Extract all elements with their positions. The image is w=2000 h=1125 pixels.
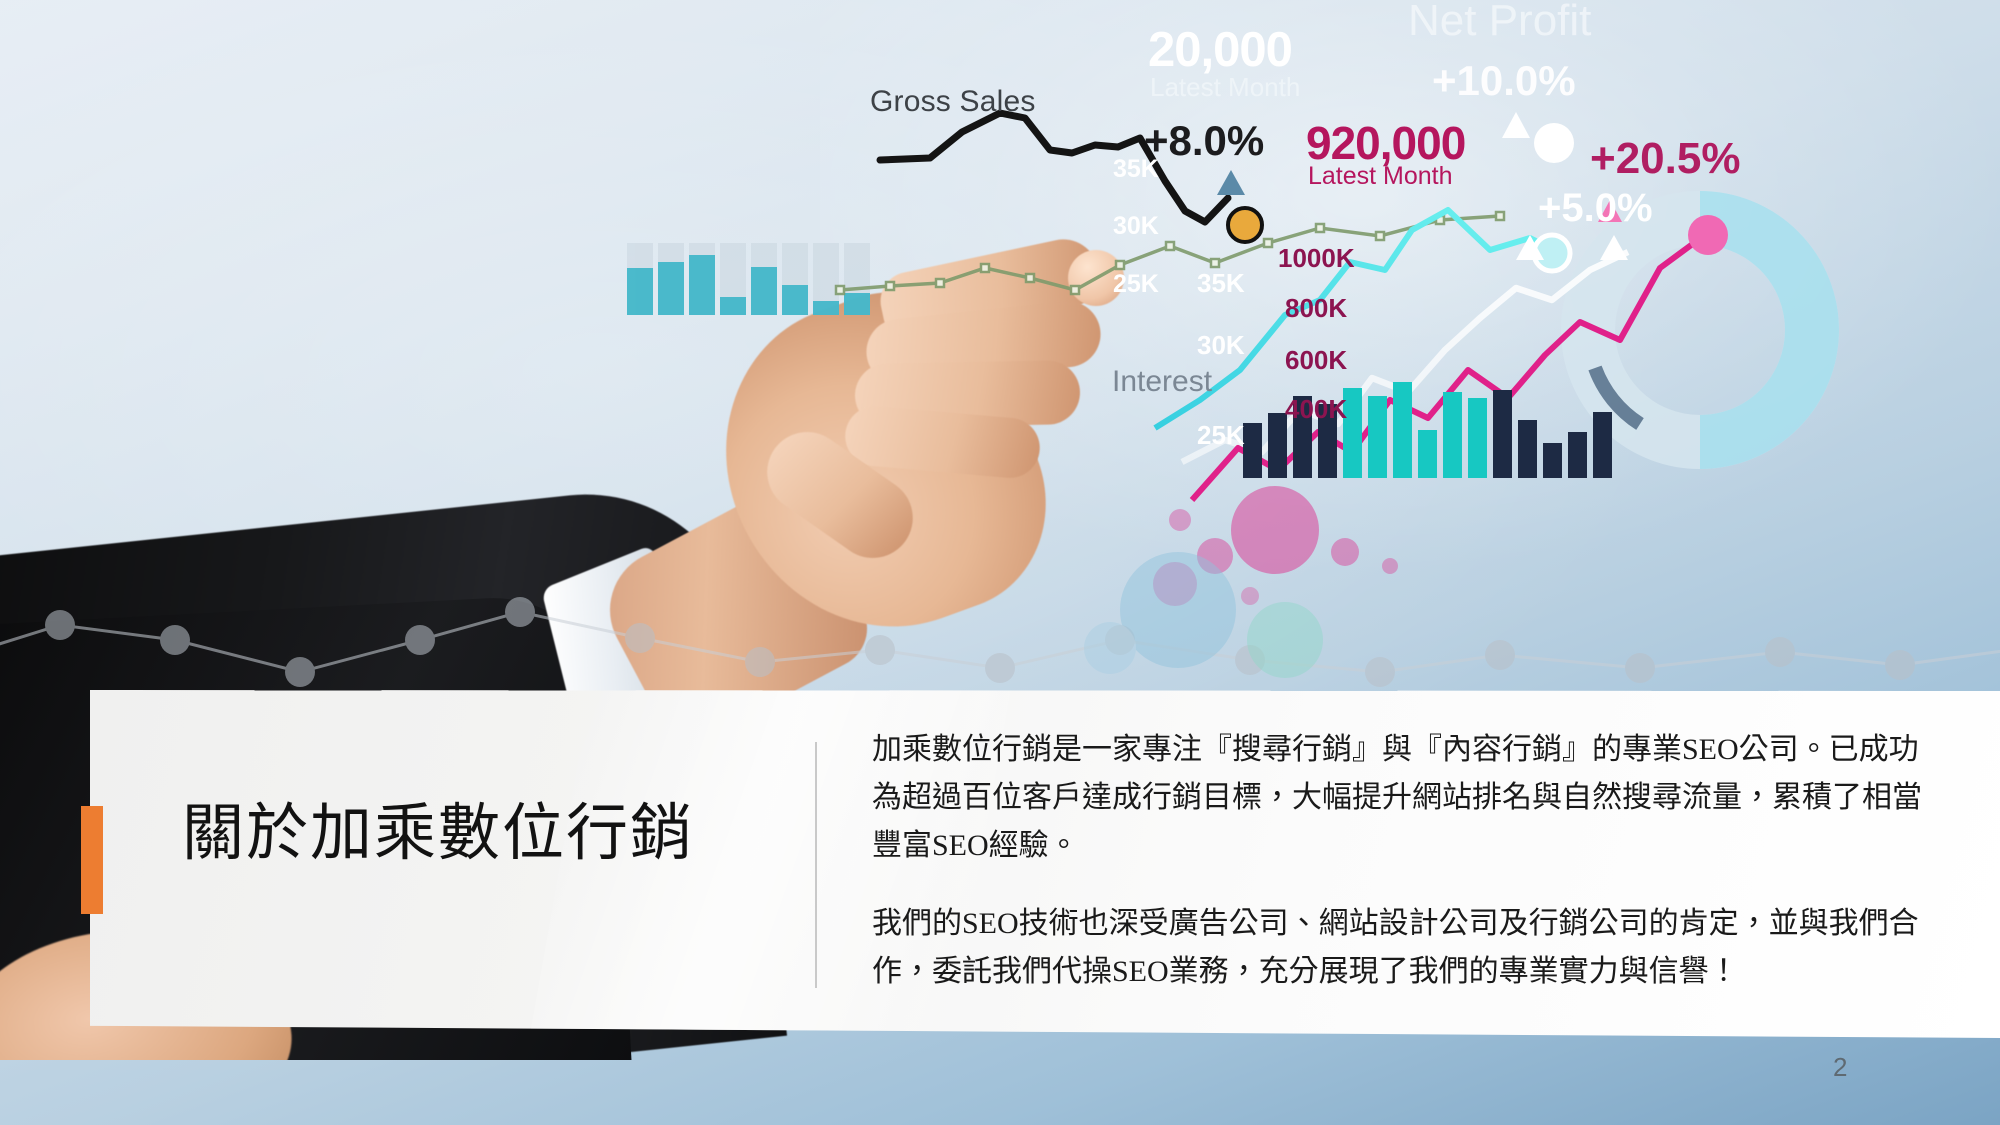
axis-tick-600k: 600K — [1285, 345, 1347, 376]
triangle-up-1 — [1217, 170, 1245, 195]
revenue-delta: +20.5% — [1590, 134, 1740, 184]
gross-sales-caption: Latest Month — [1150, 72, 1300, 103]
page-title: 關於加乘數位行銷 — [182, 800, 742, 869]
axis-tick-1000k: 1000K — [1278, 243, 1355, 274]
gross-sales-label: Gross Sales — [870, 85, 1036, 119]
axis-tick-30k-mid: 30K — [1197, 330, 1245, 361]
cyan-line-marker-1 — [1534, 123, 1574, 163]
revenue-caption: Latest Month — [1308, 162, 1453, 191]
vertical-divider — [815, 742, 817, 988]
page-number: 2 — [1833, 1052, 1847, 1083]
triangle-up-2 — [1502, 112, 1530, 138]
left-bar-chart — [627, 243, 870, 315]
magenta-line-marker — [1688, 215, 1728, 255]
axis-tick-25k-left: 25K — [1113, 270, 1159, 299]
axis-tick-800k: 800K — [1285, 293, 1347, 324]
body-text: 加乘數位行銷是一家專注『搜尋行銷』與『內容行銷』的專業SEO公司。已成功為超過百… — [872, 726, 1947, 996]
gross-sales-delta: +8.0% — [1144, 117, 1264, 165]
gross-sales-value: 20,000 — [1148, 22, 1292, 78]
olive-interest-line — [836, 212, 1504, 294]
axis-tick-35k-mid: 35K — [1197, 268, 1245, 299]
interest-delta: +5.0% — [1538, 186, 1653, 231]
axis-tick-400k: 400K — [1285, 394, 1347, 425]
net-profit-label: Net Profit — [1408, 0, 1591, 46]
axis-tick-25k-mid: 25K — [1197, 420, 1245, 451]
axis-tick-35k-left: 35K — [1113, 155, 1159, 184]
net-profit-delta: +10.0% — [1432, 57, 1576, 105]
gross-sales-marker — [1228, 208, 1262, 242]
interest-label: Interest — [1112, 365, 1212, 399]
title-accent-bar — [81, 806, 103, 914]
network-connectors — [0, 597, 2000, 687]
body-paragraph-2: 我們的SEO技術也深受廣告公司、網站設計公司及行銷公司的肯定，並與我們合作，委託… — [872, 900, 1947, 996]
slide-root: Gross Sales Interest Net Profit 20,000 L… — [0, 0, 2000, 1125]
axis-tick-30k-left: 30K — [1113, 212, 1159, 241]
body-paragraph-1: 加乘數位行銷是一家專注『搜尋行銷』與『內容行銷』的專業SEO公司。已成功為超過百… — [872, 726, 1947, 870]
